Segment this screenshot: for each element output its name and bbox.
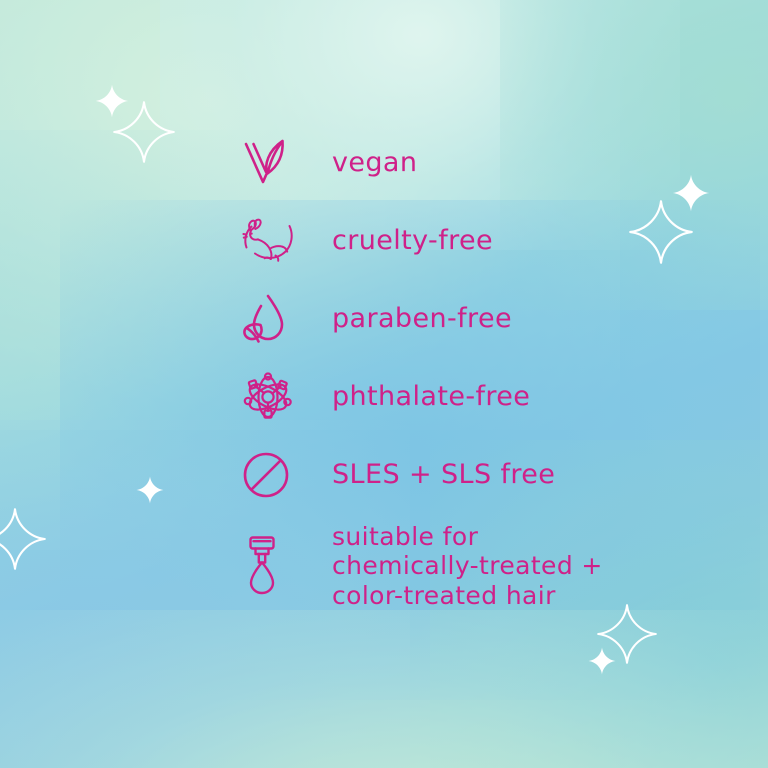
claim-label: vegan <box>312 147 417 179</box>
leaping-bunny-icon <box>238 217 312 265</box>
dropper-pipette-icon <box>238 535 312 597</box>
droplet-leaf-icon <box>238 293 312 345</box>
claim-row: phthalate-free <box>238 358 668 436</box>
prohibited-circle-icon <box>238 451 312 499</box>
leaf-v-icon <box>238 138 312 188</box>
claim-label: cruelty-free <box>312 225 493 257</box>
claim-row: SLES + SLS free <box>238 436 668 514</box>
claims-list: vegan <box>238 124 668 618</box>
claim-row: vegan <box>238 124 668 202</box>
claim-row: paraben-free <box>238 280 668 358</box>
claims-panel: vegan <box>0 0 768 768</box>
atom-molecule-icon <box>238 372 312 422</box>
claim-label: phthalate-free <box>312 381 530 413</box>
claim-label: suitable for chemically-treated + color-… <box>312 522 603 610</box>
claim-row: suitable for chemically-treated + color-… <box>238 514 668 618</box>
claim-row: cruelty-free <box>238 202 668 280</box>
claim-label: SLES + SLS free <box>312 459 555 491</box>
claim-label: paraben-free <box>312 303 512 335</box>
background-glow-bottom <box>0 610 768 768</box>
